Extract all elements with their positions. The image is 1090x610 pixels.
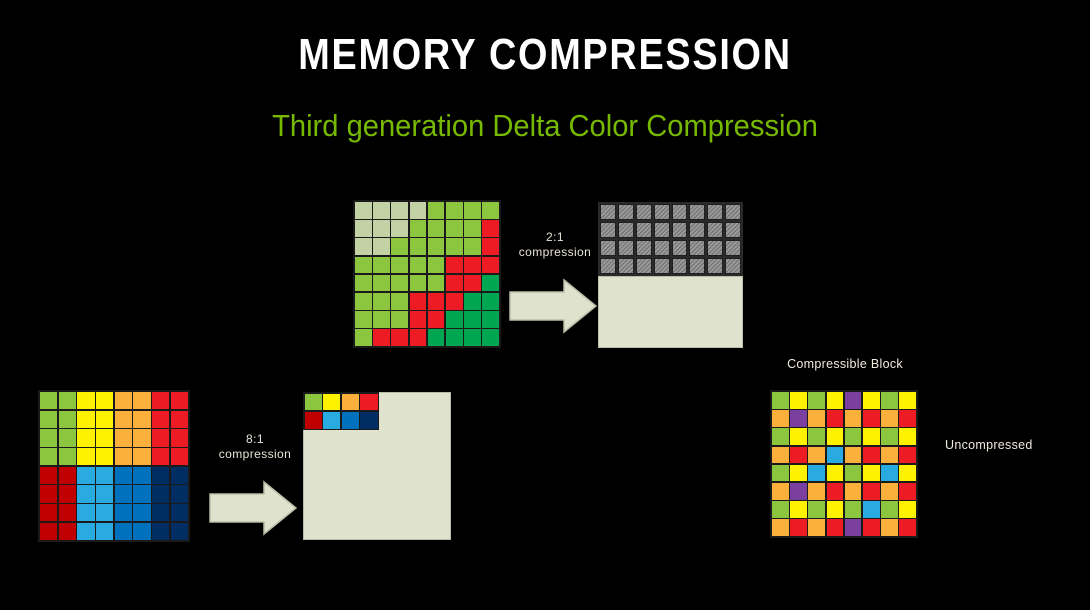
- grid-cell: [373, 202, 390, 219]
- grid-cell: [40, 523, 57, 540]
- hatched-cell: [600, 204, 616, 220]
- hatched-cell: [654, 222, 670, 238]
- two-to-one-arrow-label: 2:1 compression: [495, 230, 615, 260]
- grid-cell: [899, 483, 916, 500]
- grid-cell: [59, 392, 76, 409]
- grid-cell: [464, 293, 481, 310]
- hatched-cell: [725, 258, 741, 274]
- grid-cell: [827, 447, 844, 464]
- hatched-cell: [707, 222, 723, 238]
- eight-to-one-ratio: 8:1: [195, 432, 315, 447]
- grid-cell: [59, 411, 76, 428]
- grid-cell: [40, 411, 57, 428]
- grid-cell: [899, 465, 916, 482]
- grid-cell: [808, 519, 825, 536]
- grid-cell: [355, 257, 372, 274]
- grid-cell: [115, 523, 132, 540]
- grid-cell: [881, 483, 898, 500]
- grid-cell: [152, 411, 169, 428]
- grid-cell: [323, 412, 340, 429]
- grid-cell: [428, 238, 445, 255]
- grid-cell: [881, 428, 898, 445]
- grid-cell: [863, 519, 880, 536]
- grid-cell: [59, 523, 76, 540]
- grid-cell: [827, 501, 844, 518]
- grid-cell: [827, 392, 844, 409]
- grid-cell: [808, 447, 825, 464]
- grid-cell: [464, 257, 481, 274]
- grid-cell: [790, 465, 807, 482]
- grid-cell: [96, 467, 113, 484]
- grid-cell: [59, 448, 76, 465]
- grid-cell: [171, 504, 188, 521]
- grid-cell: [446, 238, 463, 255]
- grid-cell: [96, 448, 113, 465]
- grid-cell: [863, 428, 880, 445]
- two-to-one-hatched-area: [598, 202, 743, 276]
- grid-cell: [845, 465, 862, 482]
- hatched-cell: [707, 204, 723, 220]
- grid-cell: [772, 501, 789, 518]
- grid-cell: [410, 329, 427, 346]
- grid-cell: [133, 467, 150, 484]
- grid-cell: [790, 501, 807, 518]
- grid-cell: [373, 329, 390, 346]
- two-to-one-ratio: 2:1: [495, 230, 615, 245]
- hatched-cell: [672, 258, 688, 274]
- grid-cell: [772, 447, 789, 464]
- grid-cell: [827, 483, 844, 500]
- grid-cell: [863, 483, 880, 500]
- grid-cell: [360, 394, 377, 411]
- grid-cell: [446, 293, 463, 310]
- grid-cell: [40, 392, 57, 409]
- grid-cell: [96, 485, 113, 502]
- grid-cell: [171, 429, 188, 446]
- grid-cell: [355, 311, 372, 328]
- grid-cell: [77, 448, 94, 465]
- grid-cell: [899, 501, 916, 518]
- hatched-cell: [636, 258, 652, 274]
- grid-cell: [863, 465, 880, 482]
- hatched-cell: [672, 204, 688, 220]
- grid-cell: [40, 485, 57, 502]
- grid-cell: [171, 392, 188, 409]
- grid-cell: [446, 257, 463, 274]
- grid-cell: [40, 448, 57, 465]
- grid-cell: [464, 238, 481, 255]
- grid-cell: [152, 485, 169, 502]
- grid-cell: [40, 504, 57, 521]
- hatched-cell: [654, 240, 670, 256]
- grid-cell: [827, 465, 844, 482]
- grid-cell: [391, 293, 408, 310]
- grid-cell: [464, 220, 481, 237]
- hatched-cell: [600, 258, 616, 274]
- grid-cell: [355, 329, 372, 346]
- eight-to-one-action: compression: [195, 447, 315, 462]
- green-source-block: [353, 200, 501, 348]
- grid-cell: [845, 410, 862, 427]
- grid-cell: [59, 485, 76, 502]
- grid-cell: [410, 311, 427, 328]
- hatched-cell: [689, 222, 705, 238]
- grid-cell: [342, 412, 359, 429]
- grid-cell: [845, 519, 862, 536]
- grid-cell: [790, 519, 807, 536]
- grid-cell: [808, 410, 825, 427]
- hatched-cell: [725, 204, 741, 220]
- grid-cell: [827, 410, 844, 427]
- grid-cell: [152, 392, 169, 409]
- hatched-cell: [636, 240, 652, 256]
- grid-cell: [59, 504, 76, 521]
- grid-cell: [482, 202, 499, 219]
- grid-cell: [772, 428, 789, 445]
- grid-cell: [133, 429, 150, 446]
- grid-cell: [881, 447, 898, 464]
- page-title: MEMORY COMPRESSION: [76, 30, 1013, 80]
- grid-cell: [790, 447, 807, 464]
- grid-cell: [355, 275, 372, 292]
- grid-cell: [464, 202, 481, 219]
- grid-cell: [845, 447, 862, 464]
- grid-cell: [360, 412, 377, 429]
- grid-cell: [77, 467, 94, 484]
- grid-cell: [305, 412, 322, 429]
- grid-cell: [410, 238, 427, 255]
- grid-cell: [428, 275, 445, 292]
- hatched-cell: [672, 222, 688, 238]
- grid-cell: [96, 429, 113, 446]
- eight-to-one-arrow-label: 8:1 compression: [195, 432, 315, 462]
- grid-cell: [881, 501, 898, 518]
- grid-cell: [391, 220, 408, 237]
- two-to-one-action: compression: [495, 245, 615, 260]
- grid-cell: [881, 519, 898, 536]
- grid-cell: [845, 483, 862, 500]
- grid-cell: [96, 504, 113, 521]
- two-to-one-empty-area: [598, 276, 743, 348]
- grid-cell: [391, 311, 408, 328]
- grid-cell: [410, 257, 427, 274]
- grid-cell: [115, 392, 132, 409]
- grid-cell: [40, 467, 57, 484]
- grid-cell: [410, 293, 427, 310]
- grid-cell: [77, 523, 94, 540]
- grid-cell: [373, 311, 390, 328]
- grid-cell: [391, 238, 408, 255]
- grid-cell: [482, 329, 499, 346]
- grid-cell: [464, 311, 481, 328]
- hatched-cell: [618, 240, 634, 256]
- grid-cell: [391, 257, 408, 274]
- grid-cell: [133, 392, 150, 409]
- grid-cell: [410, 275, 427, 292]
- grid-cell: [77, 504, 94, 521]
- grid-cell: [133, 523, 150, 540]
- hatched-cell: [707, 240, 723, 256]
- grid-cell: [482, 311, 499, 328]
- grid-cell: [428, 329, 445, 346]
- hatched-cell: [636, 204, 652, 220]
- grid-cell: [899, 410, 916, 427]
- eight-to-one-mini-grid: [303, 392, 379, 430]
- grid-cell: [881, 465, 898, 482]
- grid-cell: [96, 392, 113, 409]
- grid-cell: [77, 429, 94, 446]
- grid-cell: [77, 411, 94, 428]
- grid-cell: [863, 410, 880, 427]
- grid-cell: [96, 411, 113, 428]
- grid-cell: [428, 202, 445, 219]
- grid-cell: [391, 329, 408, 346]
- grid-cell: [845, 501, 862, 518]
- grid-cell: [808, 465, 825, 482]
- grid-cell: [133, 485, 150, 502]
- grid-cell: [373, 293, 390, 310]
- grid-cell: [899, 392, 916, 409]
- grid-cell: [410, 202, 427, 219]
- grid-cell: [171, 448, 188, 465]
- grid-cell: [790, 410, 807, 427]
- grid-cell: [96, 523, 113, 540]
- grid-cell: [355, 238, 372, 255]
- grid-cell: [827, 519, 844, 536]
- eight-to-one-arrow-group: 8:1 compression: [198, 432, 303, 542]
- grid-cell: [772, 410, 789, 427]
- grid-cell: [355, 220, 372, 237]
- hatched-cell: [654, 258, 670, 274]
- grid-cell: [790, 428, 807, 445]
- grid-cell: [391, 202, 408, 219]
- grid-cell: [59, 429, 76, 446]
- hatched-cell: [689, 204, 705, 220]
- hatched-cell: [636, 222, 652, 238]
- hatched-cell: [654, 204, 670, 220]
- slide-root: MEMORY COMPRESSION Third generation Delt…: [0, 0, 1090, 610]
- grid-cell: [446, 202, 463, 219]
- hatched-cell: [689, 258, 705, 274]
- grid-cell: [808, 501, 825, 518]
- grid-cell: [152, 523, 169, 540]
- right-arrow-icon: [208, 480, 298, 536]
- hatched-cell: [618, 258, 634, 274]
- grid-cell: [323, 394, 340, 411]
- grid-cell: [152, 467, 169, 484]
- color-source-block: [38, 390, 190, 542]
- grid-cell: [428, 311, 445, 328]
- hatched-cell: [600, 222, 616, 238]
- grid-cell: [77, 485, 94, 502]
- grid-cell: [40, 429, 57, 446]
- grid-cell: [446, 311, 463, 328]
- grid-cell: [446, 220, 463, 237]
- grid-cell: [464, 275, 481, 292]
- grid-cell: [373, 275, 390, 292]
- grid-cell: [115, 448, 132, 465]
- grid-cell: [59, 467, 76, 484]
- grid-cell: [115, 429, 132, 446]
- grid-cell: [133, 504, 150, 521]
- grid-cell: [115, 411, 132, 428]
- grid-cell: [133, 448, 150, 465]
- hatched-cell: [600, 240, 616, 256]
- grid-cell: [446, 275, 463, 292]
- grid-cell: [845, 392, 862, 409]
- grid-cell: [355, 293, 372, 310]
- grid-cell: [391, 275, 408, 292]
- grid-cell: [482, 275, 499, 292]
- grid-cell: [845, 428, 862, 445]
- grid-cell: [305, 394, 322, 411]
- grid-cell: [808, 392, 825, 409]
- grid-cell: [446, 329, 463, 346]
- uncompressed-caption: Uncompressed: [945, 437, 1065, 453]
- grid-cell: [171, 485, 188, 502]
- grid-cell: [373, 220, 390, 237]
- grid-cell: [373, 238, 390, 255]
- grid-cell: [863, 392, 880, 409]
- grid-cell: [899, 447, 916, 464]
- grid-cell: [863, 447, 880, 464]
- hatched-cell: [725, 222, 741, 238]
- page-subtitle: Third generation Delta Color Compression: [33, 108, 1058, 144]
- hatched-cell: [707, 258, 723, 274]
- grid-cell: [790, 483, 807, 500]
- hatched-cell: [672, 240, 688, 256]
- grid-cell: [428, 293, 445, 310]
- grid-cell: [772, 519, 789, 536]
- grid-cell: [410, 220, 427, 237]
- grid-cell: [772, 392, 789, 409]
- grid-cell: [115, 467, 132, 484]
- grid-cell: [790, 392, 807, 409]
- grid-cell: [881, 392, 898, 409]
- grid-cell: [428, 257, 445, 274]
- grid-cell: [152, 504, 169, 521]
- hatched-cell: [689, 240, 705, 256]
- grid-cell: [881, 410, 898, 427]
- grid-cell: [342, 394, 359, 411]
- right-arrow-icon: [508, 278, 598, 334]
- grid-cell: [171, 411, 188, 428]
- grid-cell: [772, 465, 789, 482]
- grid-cell: [115, 485, 132, 502]
- grid-cell: [77, 392, 94, 409]
- hatched-cell: [618, 204, 634, 220]
- grid-cell: [827, 428, 844, 445]
- hatched-cell: [725, 240, 741, 256]
- grid-cell: [355, 202, 372, 219]
- grid-cell: [115, 504, 132, 521]
- grid-cell: [482, 293, 499, 310]
- grid-cell: [899, 519, 916, 536]
- grid-cell: [152, 429, 169, 446]
- grid-cell: [808, 428, 825, 445]
- grid-cell: [428, 220, 445, 237]
- grid-cell: [373, 257, 390, 274]
- two-to-one-arrow-group: 2:1 compression: [500, 230, 600, 340]
- grid-cell: [863, 501, 880, 518]
- grid-cell: [171, 523, 188, 540]
- uncompressed-noise-block: [770, 390, 918, 538]
- compressible-caption-line1: Compressible Block: [765, 356, 925, 372]
- grid-cell: [899, 428, 916, 445]
- hatched-cell: [618, 222, 634, 238]
- grid-cell: [464, 329, 481, 346]
- grid-cell: [171, 467, 188, 484]
- grid-cell: [133, 411, 150, 428]
- grid-cell: [772, 483, 789, 500]
- grid-cell: [152, 448, 169, 465]
- grid-cell: [808, 483, 825, 500]
